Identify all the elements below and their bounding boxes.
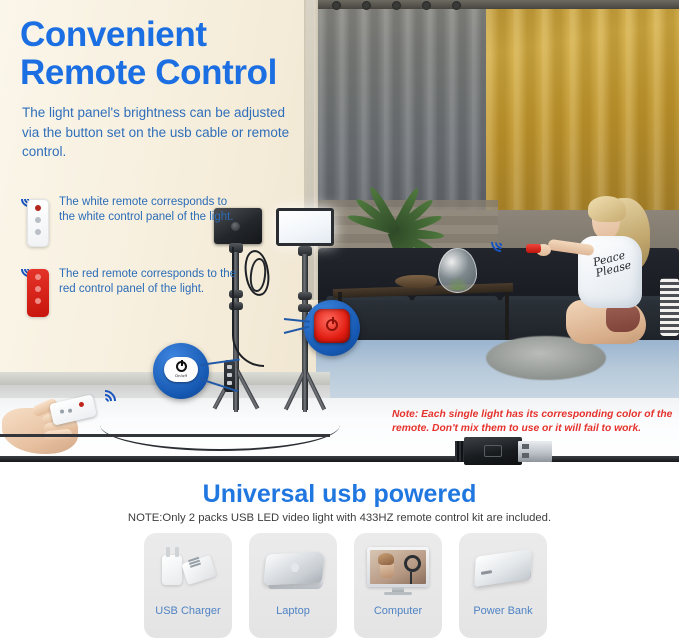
signal-waves-icon (94, 390, 120, 416)
remote-power-button[interactable] (35, 274, 41, 280)
power-glyph (176, 361, 187, 372)
led-panel-lit (276, 208, 334, 246)
headline-line-1: Convenient (20, 16, 277, 54)
usb-cable (0, 456, 679, 462)
product-infographic: Peace Please (0, 0, 679, 641)
remote-button[interactable] (68, 408, 73, 413)
white-control-panel-zoom: On/off (153, 343, 209, 399)
red-remote-icon[interactable] (27, 269, 49, 317)
monitor-screen (370, 550, 426, 584)
charger-prong (166, 547, 170, 557)
page-title: Convenient Remote Control (20, 16, 277, 92)
curtain-grommet (452, 1, 461, 10)
power-button-label: On/off (175, 373, 187, 378)
model-person: Peace Please (556, 196, 679, 376)
usb-cable (232, 247, 264, 367)
device-card-label: Power Bank (459, 605, 547, 617)
callout-text-white: The white remote corresponds to the whit… (59, 195, 239, 224)
curtain-gold (486, 0, 679, 218)
tripod-leg (303, 370, 307, 412)
device-card-laptop[interactable]: Laptop (249, 533, 337, 638)
device-card-computer[interactable]: Computer (354, 533, 442, 638)
device-card-label: Computer (354, 605, 442, 617)
curtain-grommet (332, 1, 341, 10)
device-card-power-bank[interactable]: Power Bank (459, 533, 547, 638)
remote-button[interactable] (35, 217, 41, 223)
curtain-grommet (362, 1, 371, 10)
curtain-grommet (422, 1, 431, 10)
coffee-table-leg (505, 292, 509, 342)
tripod-lock-knob (298, 292, 312, 300)
power-button-icon[interactable]: On/off (164, 357, 198, 382)
ring-light-icon (404, 555, 421, 572)
charger-body (162, 555, 182, 585)
device-card-usb-charger[interactable]: USB Charger (144, 533, 232, 638)
power-glyph (326, 319, 338, 331)
red-control-panel-icon[interactable] (314, 309, 350, 343)
curtain-rod (318, 0, 679, 9)
remote-power-button[interactable] (35, 205, 41, 211)
desktop-monitor-icon (354, 533, 442, 605)
monitor-foot (384, 592, 412, 595)
power-bank-body (474, 549, 531, 587)
usb-plug-contacts (518, 441, 552, 462)
hair-front (588, 196, 626, 222)
vase-plant (449, 274, 467, 290)
white-remote-icon[interactable] (49, 394, 97, 425)
usb-cable-run (0, 434, 330, 437)
compatible-devices-list: USB Charger Laptop (144, 533, 547, 638)
remote-button[interactable] (60, 409, 65, 414)
callout-text-red: The red remote corresponds to the red co… (59, 267, 239, 296)
curtain-grommet (392, 1, 401, 10)
warning-note: Note: Each single light has its correspo… (392, 408, 679, 436)
usb-powered-section: Universal usb powered NOTE:Only 2 packs … (0, 462, 679, 641)
hero-subhead: The light panel's brightness can be adju… (22, 103, 292, 162)
remote-button[interactable] (35, 298, 41, 304)
remote-button[interactable] (35, 229, 41, 235)
ring-light-tripod (410, 572, 412, 584)
power-bank-icon (459, 533, 547, 605)
laptop-logo (291, 563, 299, 572)
usb-charger-icon (144, 533, 232, 605)
wooden-decor-object (395, 275, 437, 288)
lifestyle-scene: Peace Please (0, 0, 679, 462)
charger-prong (175, 547, 179, 557)
striped-pillow (660, 278, 679, 336)
screen-person-hair (378, 553, 394, 565)
white-remote-icon[interactable] (27, 199, 49, 247)
headline-line-2: Remote Control (20, 54, 277, 92)
usb-logo-icon (484, 445, 502, 457)
section-note: NOTE:Only 2 packs USB LED video light wi… (0, 512, 679, 524)
red-remote-icon (526, 244, 541, 253)
device-card-label: Laptop (249, 605, 337, 617)
remote-power-button[interactable] (78, 401, 84, 407)
section-title: Universal usb powered (0, 480, 679, 509)
shorts (606, 304, 640, 332)
signal-waves-icon (491, 232, 515, 256)
monitor-frame (367, 547, 429, 587)
device-card-label: USB Charger (144, 605, 232, 617)
red-control-panel-zoom (304, 300, 360, 356)
laptop-icon (249, 533, 337, 605)
remote-button[interactable] (35, 286, 41, 292)
